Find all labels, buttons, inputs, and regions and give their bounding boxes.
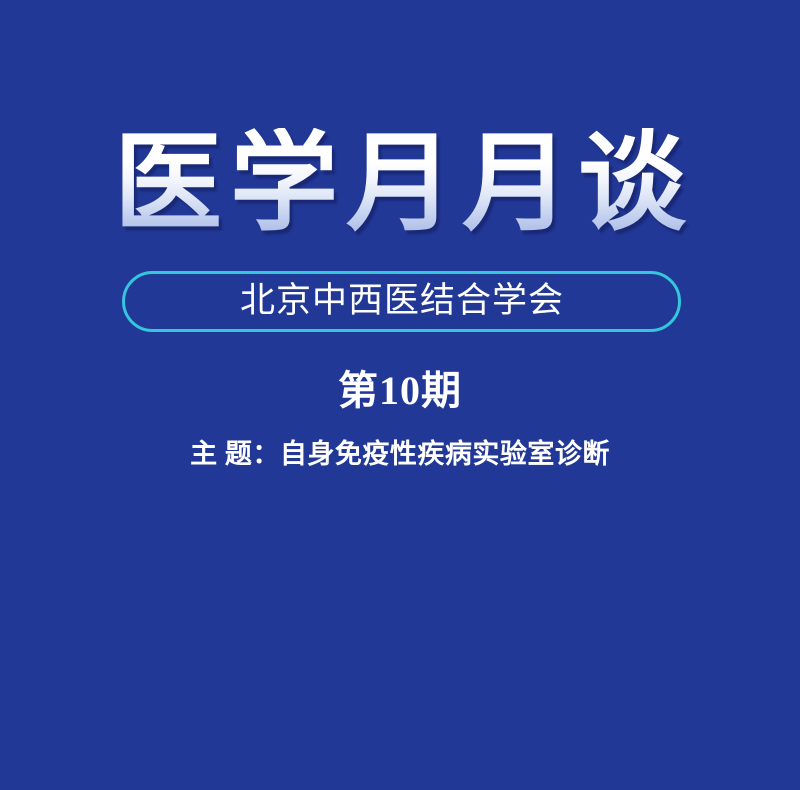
organization-pill: 北京中西医结合学会 xyxy=(122,271,681,332)
lower-empty-area xyxy=(0,490,800,790)
issue-block: 第10期 xyxy=(0,370,800,412)
topic-line: 主 题：自身免疫性疾病实验室诊断 xyxy=(190,439,610,469)
organization-name: 北京中西医结合学会 xyxy=(239,283,564,318)
topic-block: 主 题：自身免疫性疾病实验室诊断 xyxy=(0,440,800,470)
poster-canvas: 医学月月谈 北京中西医结合学会 第10期 主 题：自身免疫性疾病实验室诊断 xyxy=(0,0,800,790)
masthead: 医学月月谈 xyxy=(0,128,800,241)
page-title: 医学月月谈 xyxy=(106,128,694,241)
issue-number-label: 第10期 xyxy=(338,368,462,413)
